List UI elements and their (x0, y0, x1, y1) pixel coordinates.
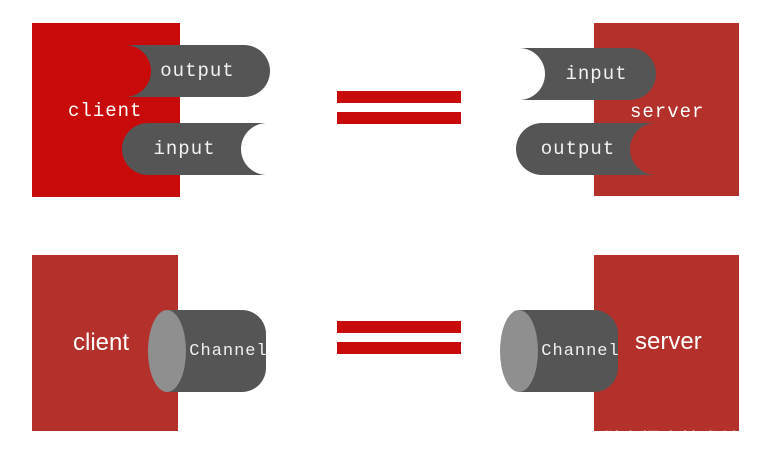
server-channel-cylinder[interactable]: Channel (519, 310, 618, 392)
server-output-port[interactable]: output (516, 123, 656, 175)
diagram-canvas: output input input output client server … (0, 0, 769, 460)
server-input-port-label: input (519, 48, 656, 100)
watermark: @稀土掘金技术社区 (581, 425, 761, 452)
client-input-port-label: input (122, 123, 267, 175)
client-channel-label: Channel (167, 310, 266, 392)
equals-connector-io (337, 91, 461, 124)
equals-bar-bottom-channel (337, 342, 461, 354)
equals-bar-top-channel (337, 321, 461, 333)
equals-connector-channel (337, 321, 461, 354)
server-input-port[interactable]: input (519, 48, 656, 100)
server-label-channel: server (635, 330, 702, 354)
server-label-io: server (630, 103, 704, 122)
client-label-channel: client (73, 331, 129, 355)
client-channel-cylinder[interactable]: Channel (167, 310, 266, 392)
server-channel-label: Channel (519, 310, 618, 392)
client-input-port[interactable]: input (122, 123, 267, 175)
client-output-port[interactable]: output (125, 45, 270, 97)
equals-bar-bottom-io (337, 112, 461, 124)
client-label-io: client (68, 102, 142, 121)
equals-bar-top-io (337, 91, 461, 103)
client-output-port-label: output (125, 45, 270, 97)
server-output-port-label: output (516, 123, 656, 175)
